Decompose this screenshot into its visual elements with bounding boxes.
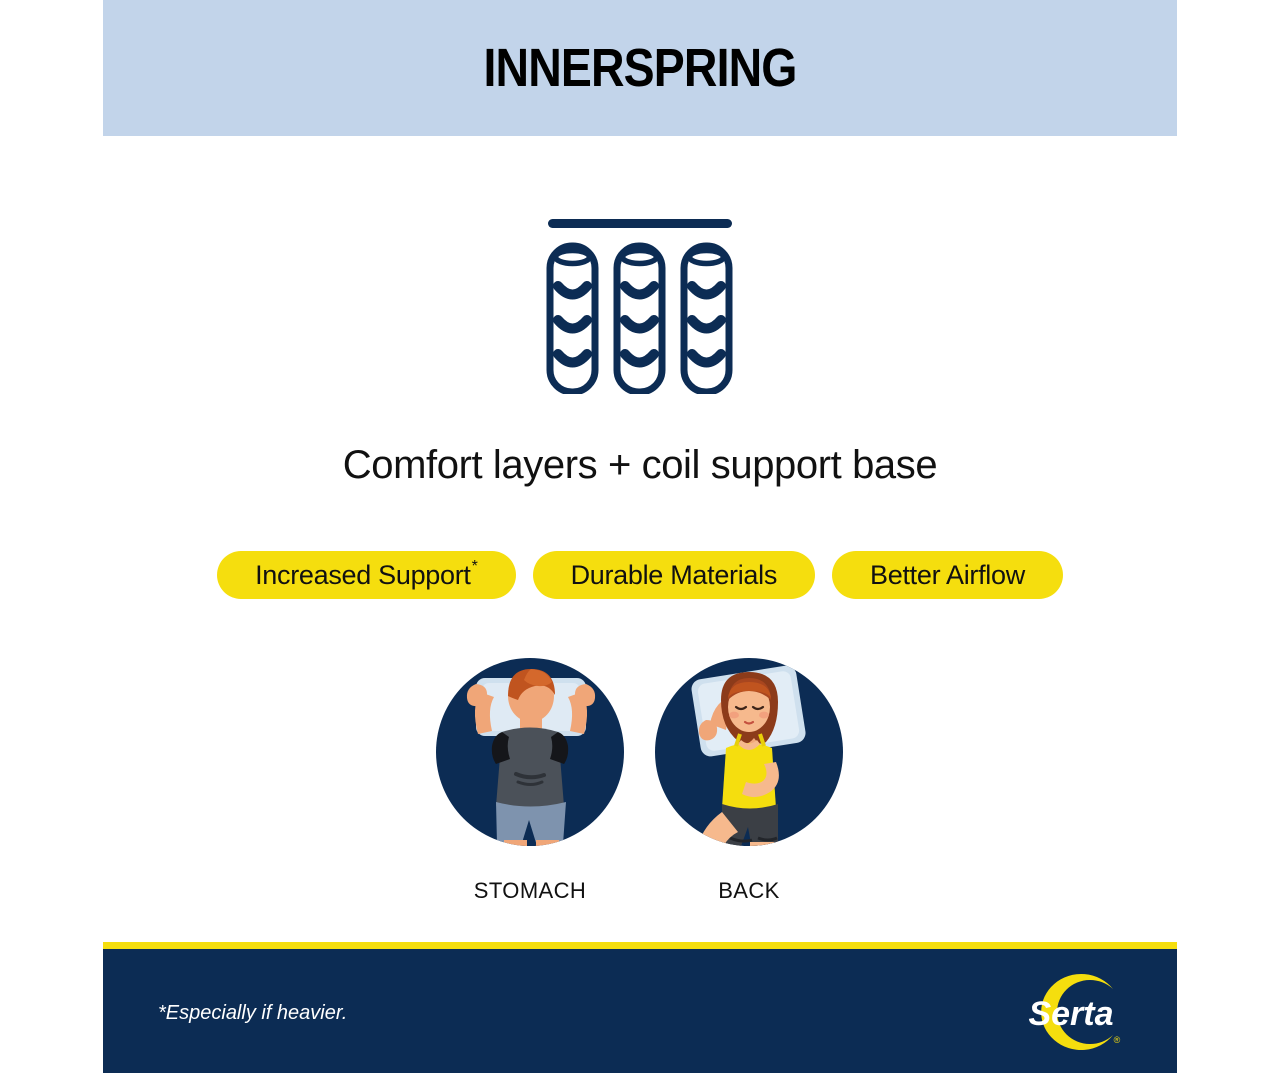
sleep-position-label: STOMACH (474, 878, 586, 904)
sleep-position-back: BACK (654, 652, 844, 904)
header-band: INNERSPRING (103, 0, 1177, 136)
coil-top-bar (548, 219, 732, 228)
coil-cylinder-3 (684, 246, 729, 392)
sleep-position-stomach: STOMACH (436, 652, 624, 904)
footnote-text: *Especially if heavier. (158, 1002, 347, 1025)
benefit-pill-label: Durable Materials (571, 560, 777, 591)
coil-cylinder-1 (550, 246, 595, 392)
coil-cylinder-2 (617, 246, 662, 392)
coil-icon-container (103, 196, 1177, 401)
benefit-pill-row: Increased Support* Durable Materials Bet… (103, 551, 1177, 599)
serta-wordmark: Serta (1028, 995, 1113, 1033)
tagline: Comfort layers + coil support base (103, 443, 1177, 488)
back-sleeper-illustration (654, 652, 844, 852)
footer: *Especially if heavier. Serta ® (103, 949, 1177, 1073)
innerspring-coils-icon (540, 204, 740, 394)
serta-logo[interactable]: Serta ® (1021, 967, 1129, 1057)
sleep-position-label: BACK (718, 878, 780, 904)
sleep-positions-row: STOMACH (103, 652, 1177, 904)
stomach-sleeper-illustration (436, 652, 624, 852)
benefit-pill-increased-support[interactable]: Increased Support* (217, 551, 515, 599)
benefit-pill-durable-materials[interactable]: Durable Materials (533, 551, 815, 599)
benefit-pill-label: Better Airflow (870, 560, 1025, 591)
benefit-pill-label: Increased Support (255, 560, 471, 591)
registered-mark: ® (1114, 1035, 1121, 1045)
benefit-pill-better-airflow[interactable]: Better Airflow (832, 551, 1063, 599)
page-title: INNERSPRING (483, 37, 796, 99)
footer-accent-rule (103, 942, 1177, 949)
innerspring-info-card: INNERSPRING (103, 0, 1177, 1073)
